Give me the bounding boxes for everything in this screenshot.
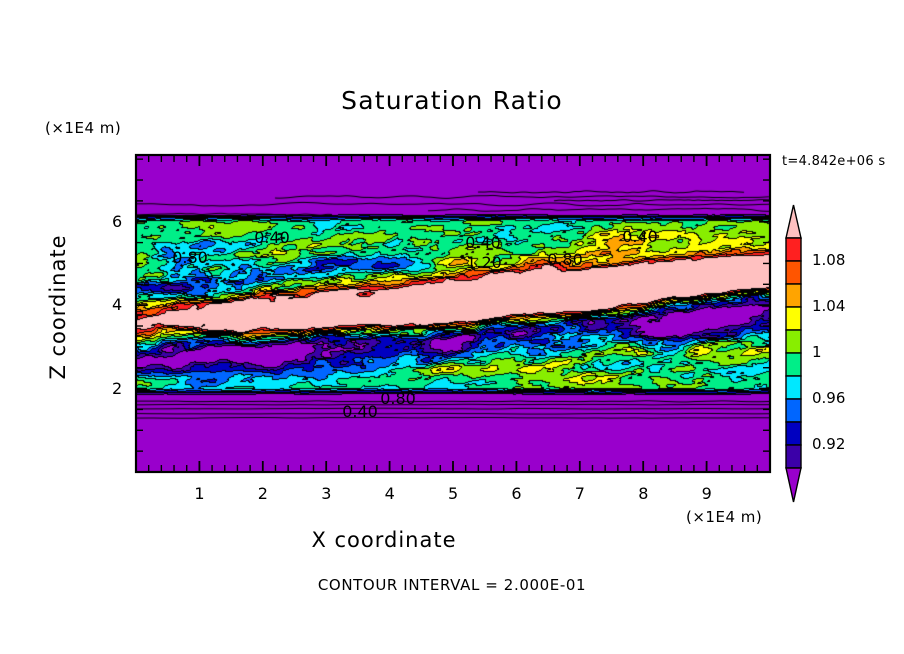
x-tick-label-7: 7: [575, 484, 585, 503]
colorbar-band-4: [786, 330, 801, 353]
x-tick-label-3: 3: [321, 484, 331, 503]
x-tick-label-5: 5: [448, 484, 458, 503]
colorbar-over-cap: [786, 205, 801, 238]
contour-label: 0.40: [622, 227, 658, 246]
y-tick-label-2: 2: [112, 379, 122, 398]
x-tick-label-8: 8: [638, 484, 648, 503]
contour-label: 0.80: [172, 248, 208, 267]
colorbar-band-3: [786, 307, 801, 330]
contour-label: 0.40: [254, 228, 290, 247]
contour-label: 0.40: [465, 233, 501, 252]
x-tick-label-2: 2: [258, 484, 268, 503]
colorbar-band-8: [786, 422, 801, 445]
contour-label: 0.80: [547, 250, 583, 269]
contour-label: 0.80: [380, 389, 416, 408]
x-tick-label-1: 1: [194, 484, 204, 503]
x-tick-label-4: 4: [385, 484, 395, 503]
colorbar: [786, 205, 801, 502]
x-axis-units: (×1E4 m): [686, 508, 762, 526]
y-tick-label-6: 6: [112, 212, 122, 231]
colorbar-band-1: [786, 261, 801, 284]
x-axis-label: X coordinate: [0, 528, 768, 552]
colorbar-tick-1: 1: [812, 343, 822, 361]
colorbar-tick-0.96: 0.96: [812, 389, 845, 407]
contour-interval-caption: CONTOUR INTERVAL = 2.000E-01: [0, 576, 904, 594]
x-tick-label-6: 6: [511, 484, 521, 503]
colorbar-band-2: [786, 284, 801, 307]
simulation-timestamp: t=4.842e+06 s: [782, 154, 885, 169]
y-axis-label: Z coordinate: [46, 197, 70, 417]
y-tick-label-4: 4: [112, 295, 122, 314]
contour-label: 0.40: [342, 402, 378, 421]
colorbar-band-7: [786, 399, 801, 422]
page-title: Saturation Ratio: [0, 86, 904, 115]
colorbar-tick-0.92: 0.92: [812, 435, 845, 453]
colorbar-band-9: [786, 445, 801, 468]
y-axis-units: (×1E4 m): [45, 119, 121, 137]
colorbar-band-5: [786, 353, 801, 376]
colorbar-band-0: [786, 238, 801, 261]
colorbar-under-cap: [786, 468, 801, 502]
colorbar-tick-1.08: 1.08: [812, 251, 845, 269]
colorbar-band-6: [786, 376, 801, 399]
x-tick-label-9: 9: [702, 484, 712, 503]
colorbar-tick-1.04: 1.04: [812, 297, 845, 315]
contour-label: 1.20: [466, 253, 502, 272]
saturation-field-raster: [136, 155, 770, 472]
